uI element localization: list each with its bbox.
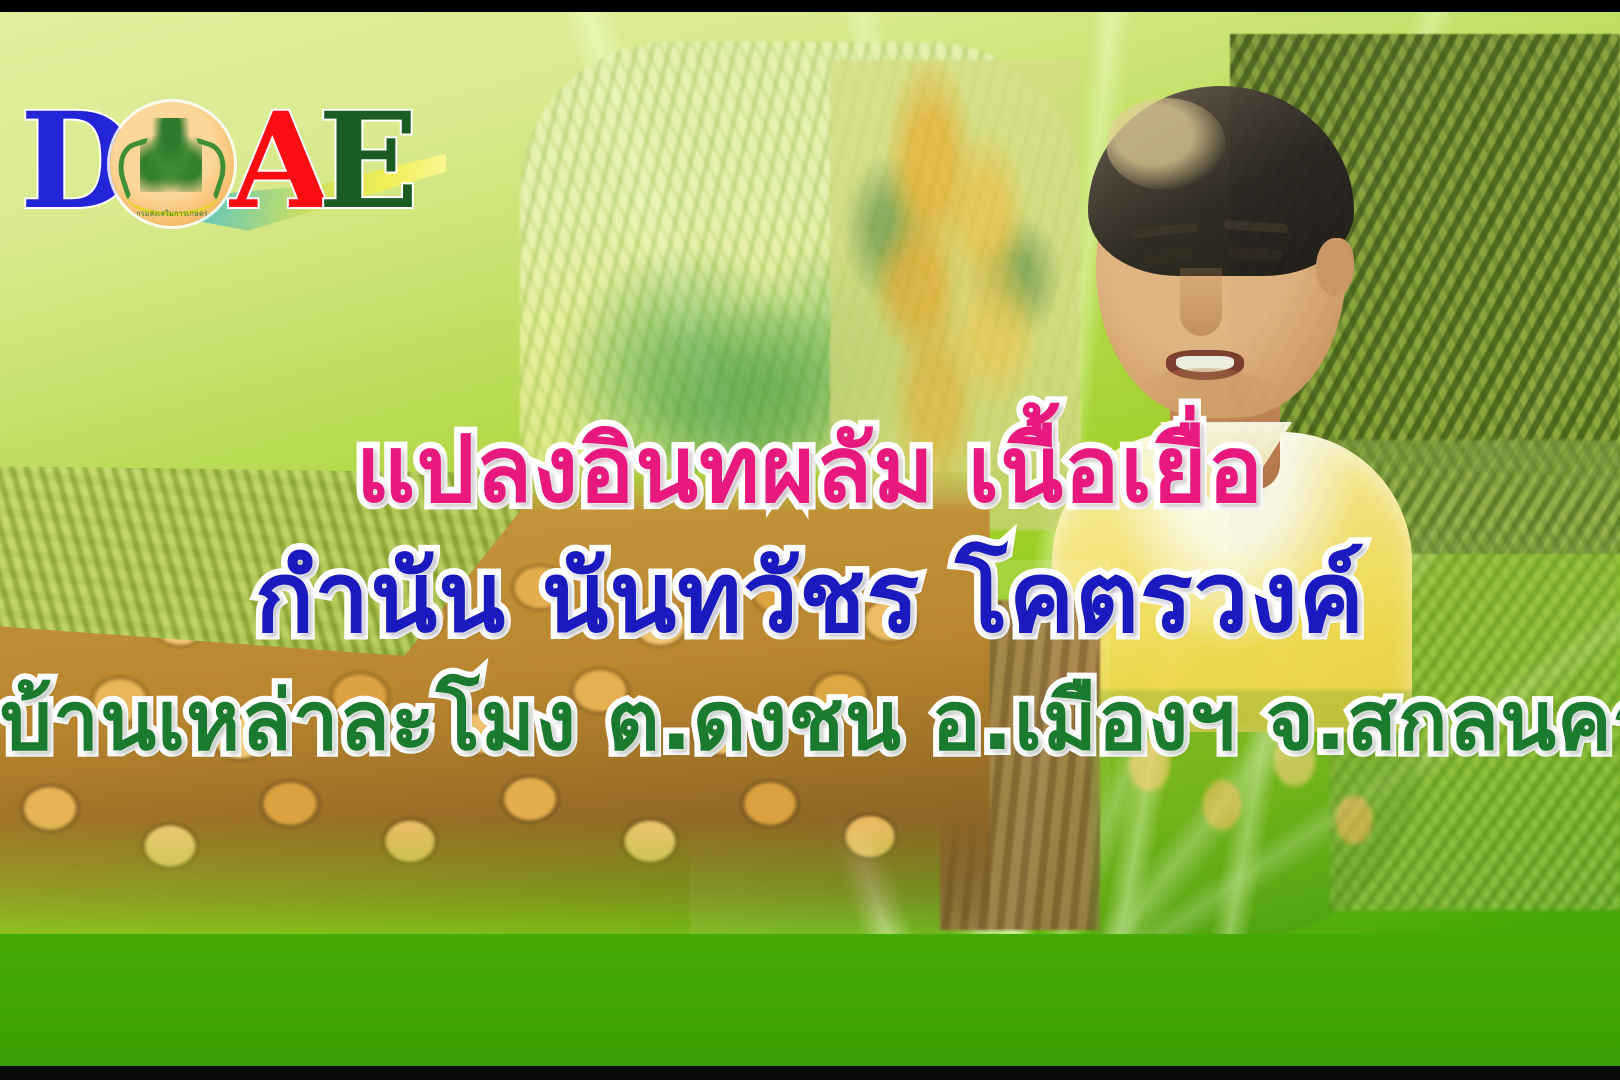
video-title-card: D กรมส่งเสริมการเกษตร A E แปลงอินทผลัม เ… bbox=[0, 0, 1620, 1080]
logo-letter-e: E bbox=[318, 96, 419, 228]
doae-seal-icon: กรมส่งเสริมการเกษตร bbox=[110, 102, 234, 226]
caption-line-3: บ้านเหล่าละโมง ต.ดงชน อ.เมืองฯ จ.สกลนคร bbox=[0, 677, 1620, 767]
caption-block: แปลงอินทผลัม เนื้อเยื่อ กำนัน นันทวัชร โ… bbox=[0, 420, 1620, 767]
seal-caption: กรมส่งเสริมการเกษตร bbox=[127, 207, 217, 220]
farmer-ear bbox=[1316, 238, 1354, 296]
letterbox-bar-bottom bbox=[0, 1066, 1620, 1080]
caption-line-2: กำนัน นันทวัชร โคตรวงค์ bbox=[0, 545, 1620, 653]
farmer-nose bbox=[1180, 268, 1222, 336]
doae-logo: D กรมส่งเสริมการเกษตร A E bbox=[18, 96, 448, 232]
caption-line-1: แปลงอินทผลัม เนื้อเยื่อ bbox=[0, 420, 1620, 519]
farmer-hair-highlight bbox=[1106, 98, 1226, 190]
letterbox-bar-top bbox=[0, 0, 1620, 12]
